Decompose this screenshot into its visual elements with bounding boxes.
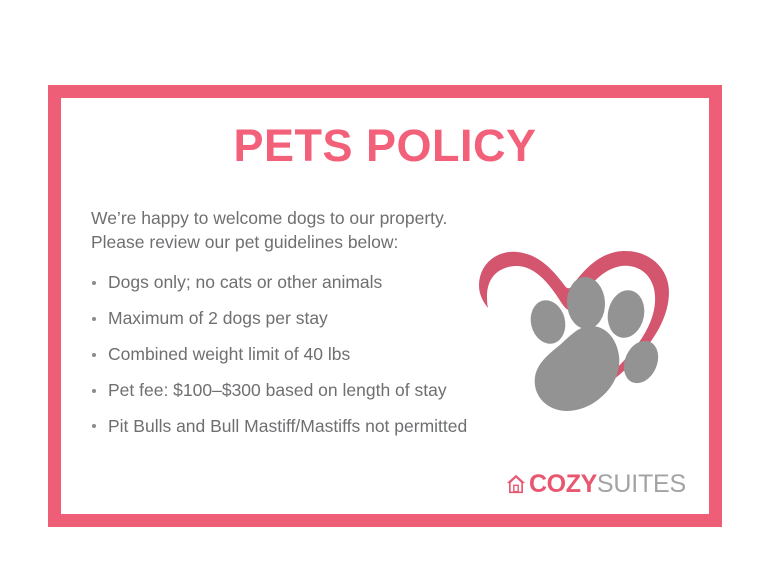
list-item: Dogs only; no cats or other animals [91, 270, 521, 296]
paw-print-icon [526, 276, 664, 411]
page-title: PETS POLICY [61, 122, 709, 169]
heart-paw-graphic [473, 248, 697, 418]
logo-brand-primary: COZY [529, 472, 597, 497]
bullet-dot-icon [92, 281, 96, 285]
pets-policy-card: PETS POLICY We’re happy to welcome dogs … [48, 85, 722, 527]
logo-brand-secondary: SUITES [597, 472, 686, 497]
list-item-label: Pit Bulls and Bull Mastiff/Mastiffs not … [108, 416, 467, 436]
bullet-dot-icon [92, 389, 96, 393]
bullet-dot-icon [92, 424, 96, 428]
cozysuites-logo: COZY SUITES [505, 471, 686, 497]
house-outline-icon [505, 473, 527, 495]
card-inner: PETS POLICY We’re happy to welcome dogs … [61, 98, 709, 514]
list-item: Pet fee: $100–$300 based on length of st… [91, 378, 521, 404]
intro-line-1: We’re happy to welcome dogs to our prope… [91, 206, 561, 230]
bullet-dot-icon [92, 317, 96, 321]
list-item-label: Dogs only; no cats or other animals [108, 272, 382, 292]
list-item-label: Combined weight limit of 40 lbs [108, 344, 350, 364]
bullet-dot-icon [92, 353, 96, 357]
list-item-label: Maximum of 2 dogs per stay [108, 308, 328, 328]
list-item: Maximum of 2 dogs per stay [91, 306, 521, 332]
poster-canvas: PETS POLICY We’re happy to welcome dogs … [0, 0, 768, 576]
list-item: Pit Bulls and Bull Mastiff/Mastiffs not … [91, 414, 521, 440]
guidelines-list: Dogs only; no cats or other animals Maxi… [91, 270, 521, 449]
list-item: Combined weight limit of 40 lbs [91, 342, 521, 368]
list-item-label: Pet fee: $100–$300 based on length of st… [108, 380, 447, 400]
